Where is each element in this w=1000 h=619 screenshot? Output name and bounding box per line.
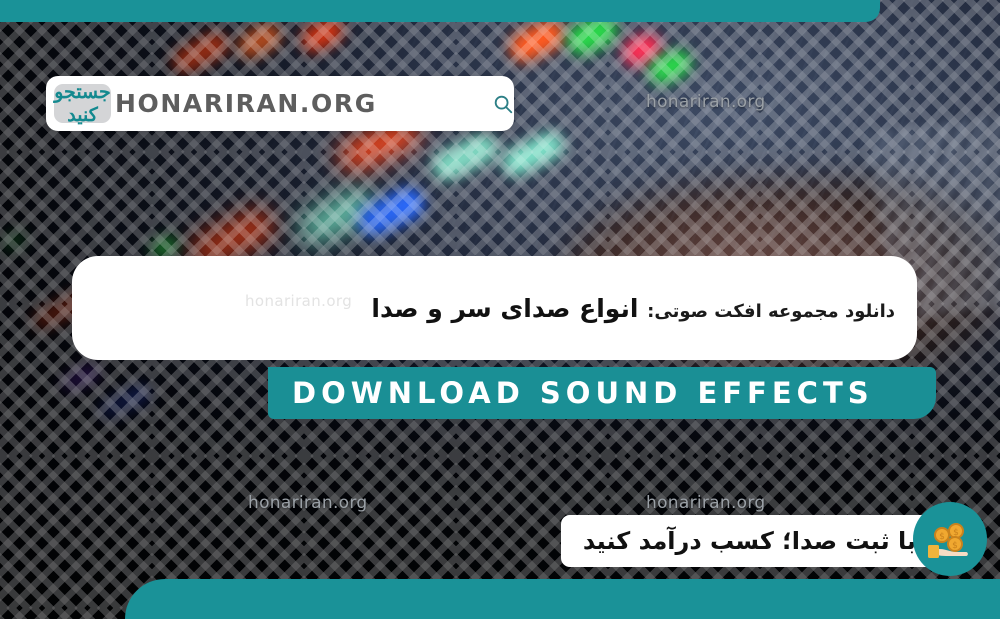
title-lead: دانلود مجموعه افکت صوتی: [647,301,895,322]
hand-holding-coins-icon: $ $ $ [913,502,987,576]
bottom-teal-bar [125,579,1000,619]
search-icon[interactable] [492,93,514,115]
monetize-cta[interactable]: با ثبت صدا؛ کسب درآمد کنید [561,515,938,567]
monetize-cta-label: با ثبت صدا؛ کسب درآمد کنید [583,527,916,555]
svg-text:$: $ [939,532,945,542]
search-input[interactable] [111,76,480,131]
card-inner-watermark: honariran.org [245,292,352,310]
search-bar[interactable]: جستجو کنید [46,76,514,131]
vignette-bottom [0,319,1000,619]
download-ribbon: DOWNLOAD SOUND EFFECTS [268,367,936,419]
svg-text:$: $ [952,541,958,551]
page-title: دانلود مجموعه افکت صوتی: انواع صدای سر و… [371,294,895,323]
banner-stage: honariran.orghonariran.orghonariran.org … [0,0,1000,619]
search-submit-button[interactable]: جستجو کنید [54,84,111,123]
title-main: انواع صدای سر و صدا [371,294,638,323]
top-teal-bar [0,0,880,22]
search-button-label: جستجو کنید [54,81,111,127]
coins-hand-glyph: $ $ $ [924,513,976,565]
title-card: دانلود مجموعه افکت صوتی: انواع صدای سر و… [72,256,917,360]
ribbon-label: DOWNLOAD SOUND EFFECTS [292,376,874,410]
